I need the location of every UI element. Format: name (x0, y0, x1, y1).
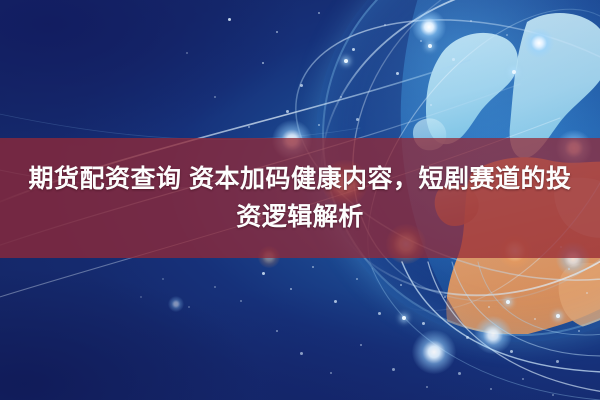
article-banner: 期货配资查询 资本加码健康内容，短剧赛道的投资逻辑解析 (0, 0, 600, 400)
title-band-inner: 期货配资查询 资本加码健康内容，短剧赛道的投资逻辑解析 (20, 160, 580, 236)
page-title: 期货配资查询 资本加码健康内容，短剧赛道的投资逻辑解析 (20, 160, 580, 236)
title-band: 期货配资查询 资本加码健康内容，短剧赛道的投资逻辑解析 (0, 138, 600, 258)
